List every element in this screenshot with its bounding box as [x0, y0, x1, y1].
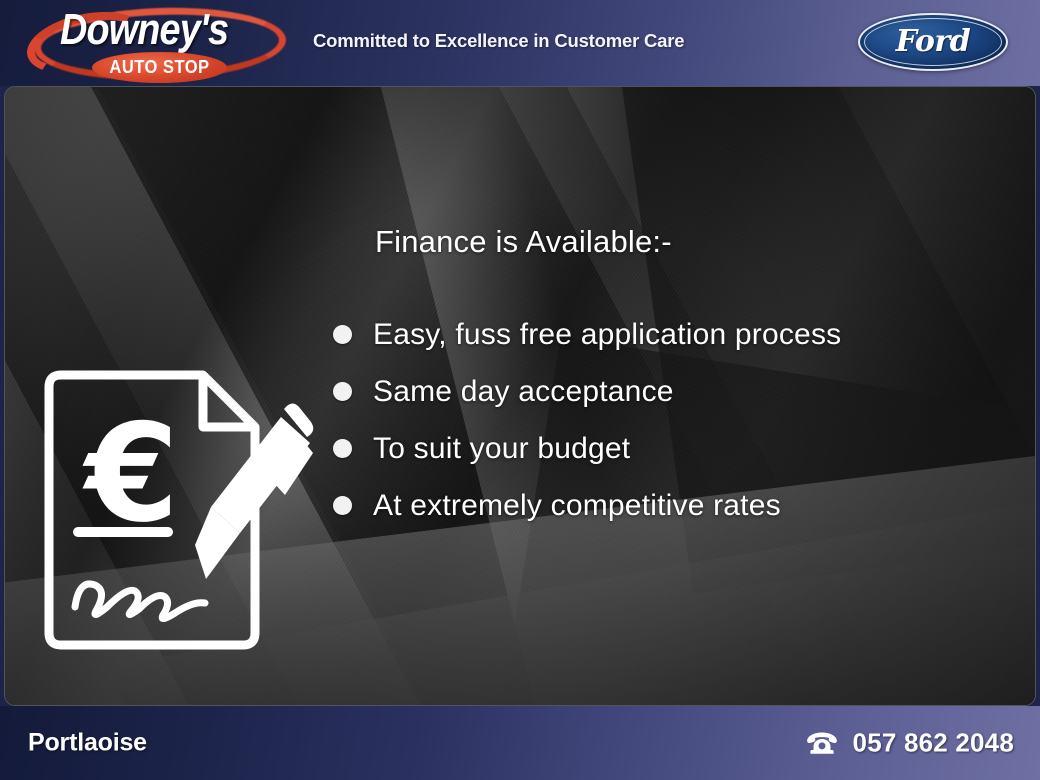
list-item: Easy, fuss free application process — [333, 306, 1015, 363]
finance-benefits-list: Easy, fuss free application process Same… — [375, 306, 1015, 534]
telephone-icon — [805, 729, 839, 757]
logo-oval-shape: AUTO STOP — [92, 52, 227, 83]
signature-squiggle — [75, 584, 205, 619]
header-bar: Downey's AUTO STOP Committed to Excellen… — [0, 0, 1040, 86]
phone-number[interactable]: 057 862 2048 — [853, 728, 1014, 759]
bullet-dot-icon — [333, 496, 352, 515]
page-title: Finance is Available:- — [375, 224, 1015, 260]
advert-banner: Downey's AUTO STOP Committed to Excellen… — [0, 0, 1040, 780]
bullet-dot-icon — [333, 382, 352, 401]
document-ruled-line — [73, 527, 173, 537]
euro-document-signature-icon: € — [35, 365, 320, 655]
bullet-dot-icon — [333, 325, 352, 344]
list-item: To suit your budget — [333, 420, 1015, 477]
ford-logo-label: Ford — [858, 13, 1008, 71]
ford-logo[interactable]: Ford — [858, 13, 1008, 71]
dealer-logo[interactable]: Downey's AUTO STOP — [24, 2, 294, 86]
bullet-dot-icon — [333, 439, 352, 458]
list-item-label: To suit your budget — [373, 432, 630, 466]
dealer-logo-name: Downey's — [60, 5, 228, 55]
contact-block[interactable]: 057 862 2048 — [805, 728, 1014, 759]
main-panel: € Finance is Available:- Easy, fuss free… — [4, 86, 1036, 706]
finance-copy-block: Finance is Available:- Easy, fuss free a… — [375, 224, 1015, 534]
list-item-label: Same day acceptance — [373, 375, 674, 409]
dealer-logo-subtitle: AUTO STOP — [97, 52, 221, 83]
footer-bar: Portlaoise 057 862 2048 — [0, 706, 1040, 780]
list-item-label: At extremely competitive rates — [373, 489, 781, 523]
list-item: Same day acceptance — [333, 363, 1015, 420]
header-tagline: Committed to Excellence in Customer Care — [313, 30, 684, 52]
list-item-label: Easy, fuss free application process — [373, 318, 841, 352]
branch-location-label: Portlaoise — [28, 729, 147, 758]
list-item: At extremely competitive rates — [333, 477, 1015, 534]
